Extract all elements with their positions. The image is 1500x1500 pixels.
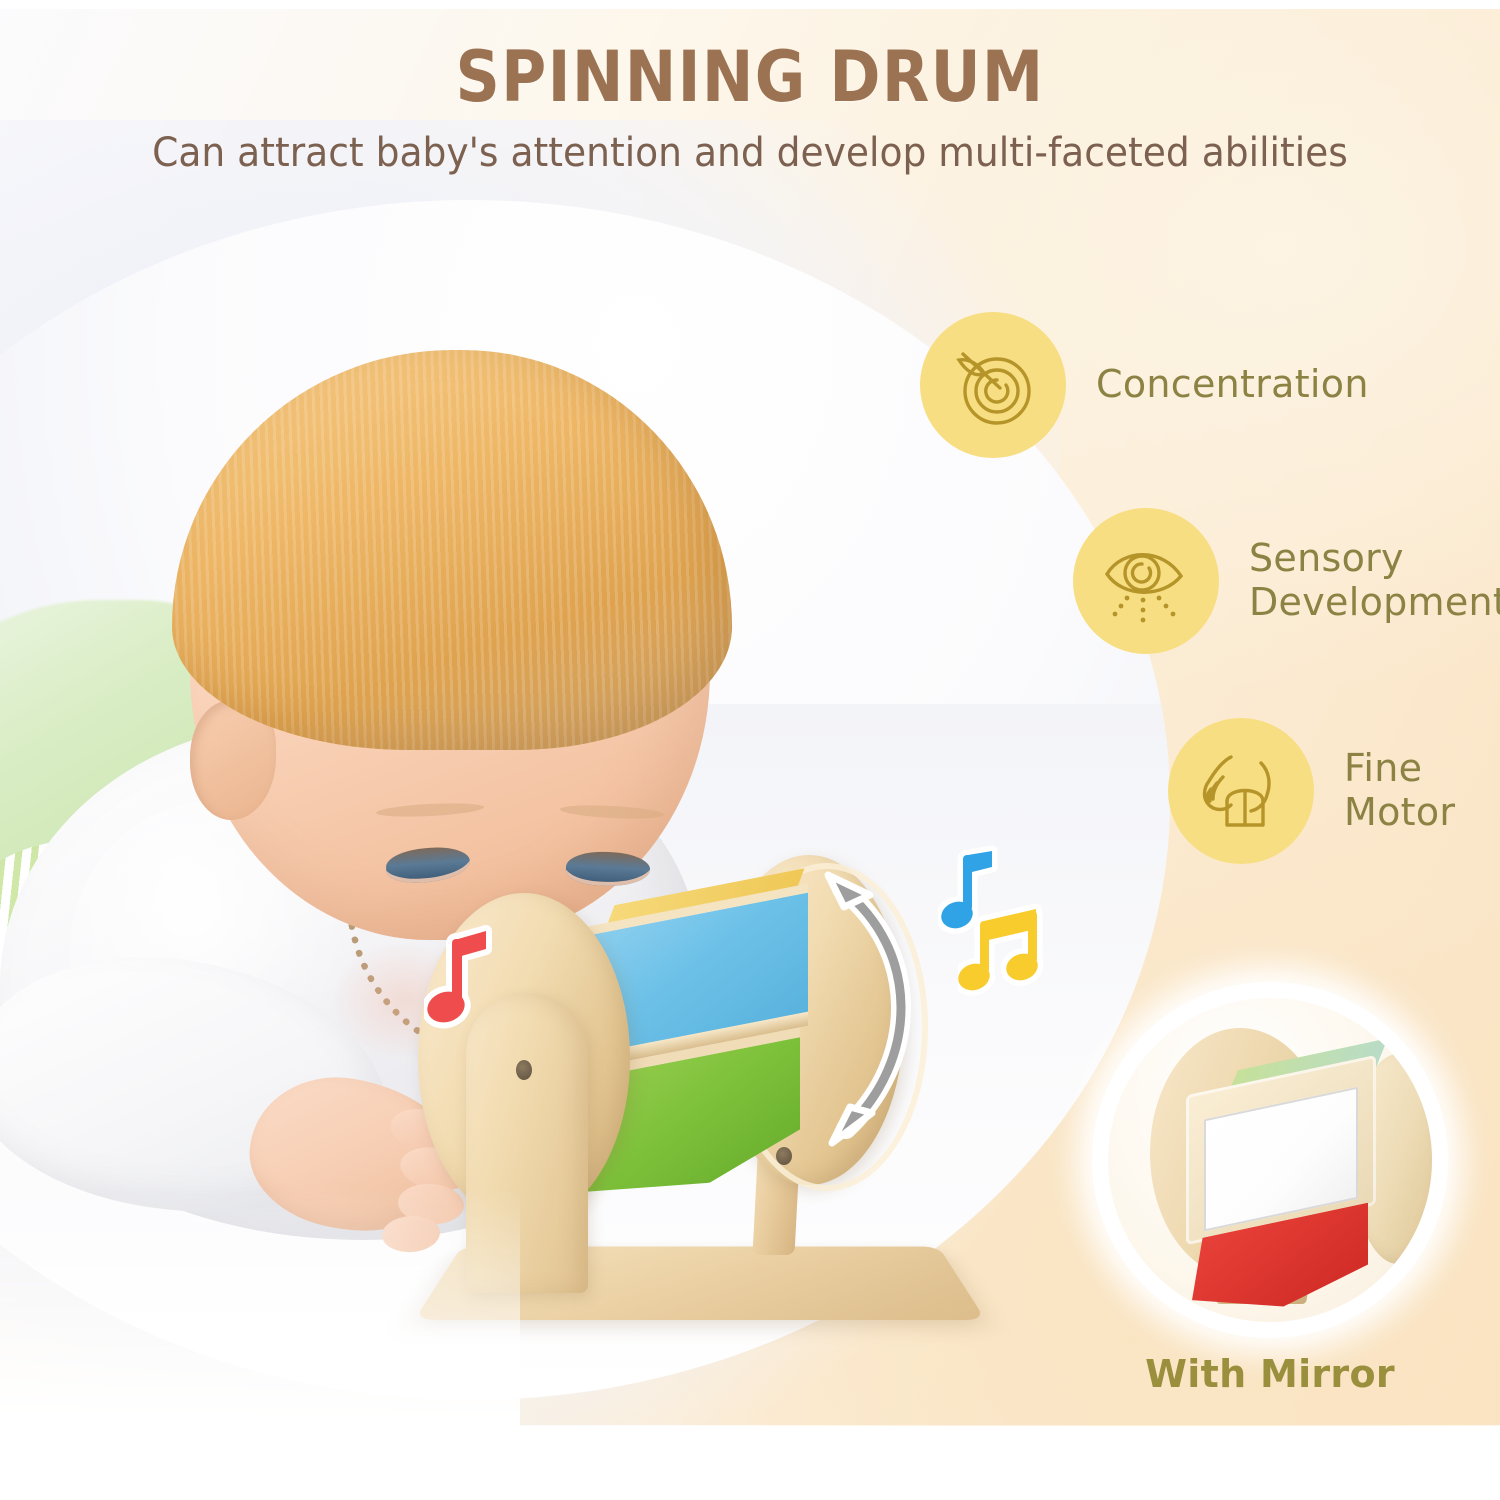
page-subtitle: Can attract baby's attention and develop… <box>45 130 1455 176</box>
target-bullseye-icon <box>945 337 1041 433</box>
page-title: SPINNING DRUM <box>90 36 1410 118</box>
toy-axle-screw <box>516 1060 532 1080</box>
bottom-left-fade <box>0 1186 520 1426</box>
inset-photo <box>1108 998 1432 1322</box>
music-note-red-icon <box>424 923 504 1033</box>
feature-label: Fine Motor <box>1344 747 1455 834</box>
inset-drum-body <box>1186 1041 1386 1294</box>
bottom-white-border <box>0 1426 1500 1500</box>
feature-icon-circle <box>1168 718 1314 864</box>
feature-label: Sensory Development <box>1249 537 1500 624</box>
feature-icon-circle <box>920 312 1066 458</box>
product-infographic: SPINNING DRUM Can attract baby's attenti… <box>0 0 1500 1500</box>
inset-caption: With Mirror <box>1092 1352 1448 1396</box>
toy-axle-screw <box>776 1147 792 1165</box>
feature-label: Concentration <box>1096 363 1369 407</box>
eye-sensory-icon <box>1097 532 1195 630</box>
baby-hair <box>172 350 732 750</box>
feature-badge-concentration[interactable]: Concentration <box>920 312 1369 458</box>
music-note-yellow-icon <box>958 903 1054 1003</box>
feature-icon-circle <box>1073 508 1219 654</box>
feature-badge-fine-motor[interactable]: Fine Motor <box>1168 718 1455 864</box>
feature-badge-sensory-development[interactable]: Sensory Development <box>1073 508 1500 654</box>
hand-grasp-block-icon <box>1193 743 1289 839</box>
rotation-arrow-icon <box>810 845 950 1165</box>
top-white-border <box>0 0 1500 9</box>
mirror-detail-inset <box>1092 982 1448 1338</box>
